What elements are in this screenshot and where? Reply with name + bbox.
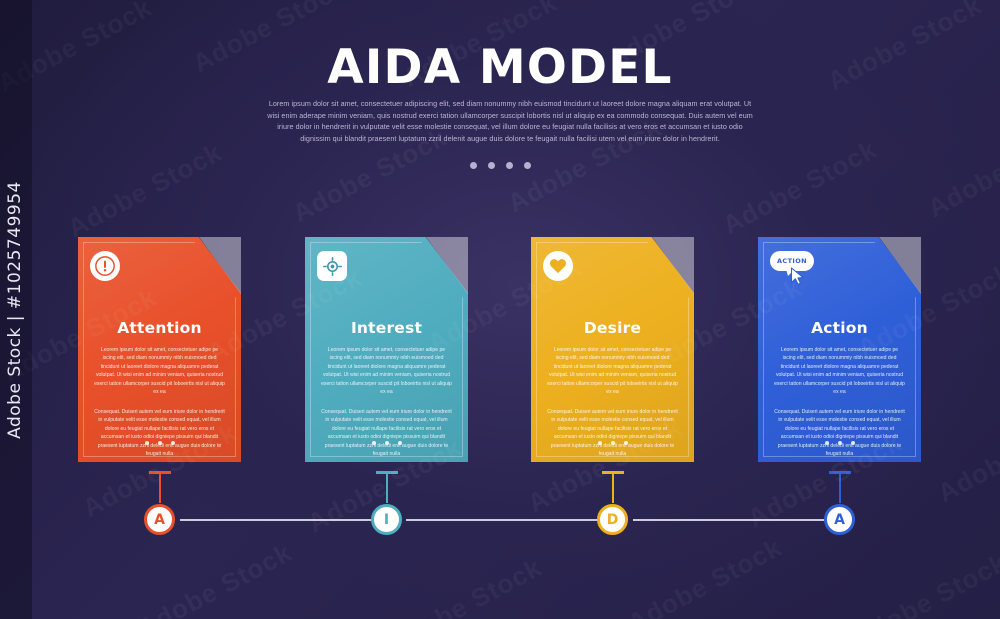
watermark-tile: Adobe Stock (718, 134, 883, 241)
card-desire[interactable]: Desire Leorem ipsum dolor sit amet, cons… (531, 237, 694, 462)
infographic-canvas: Adobe Stock Adobe Stock Adobe Stock Adob… (0, 0, 1000, 619)
timeline-stem (159, 473, 161, 503)
card-dot (611, 441, 615, 445)
cursor-click-icon: ACTION (770, 251, 820, 287)
watermark-tile: Adobe Stock (133, 537, 298, 619)
timeline-node-desire[interactable]: D (597, 504, 628, 535)
card-dot (851, 441, 855, 445)
timeline-node-letter: A (834, 512, 845, 528)
card-paragraph-2: Consequat. Duiseri autem vel eum iriure … (317, 408, 456, 459)
card-title: Action (770, 319, 909, 337)
timeline-node-letter: I (384, 512, 389, 528)
header-dot (470, 162, 477, 169)
timeline-node-action[interactable]: A (824, 504, 855, 535)
card-paragraph-1: Leorem ipsum dolor sit amet, consectetue… (770, 346, 909, 397)
card-paragraph-2: Consequat. Duiseri autem vel eum iriure … (90, 408, 229, 459)
header-dot (524, 162, 531, 169)
timeline-node-interest[interactable]: I (371, 504, 402, 535)
timeline-track-segment (406, 519, 598, 521)
card-action[interactable]: ACTION Action Leorem ipsum dolor sit ame… (758, 237, 921, 462)
page-subtitle: Lorem ipsum dolor sit amet, consectetuer… (262, 98, 758, 145)
timeline-stem (839, 473, 841, 503)
heart-icon (543, 251, 573, 281)
card-title: Attention (90, 319, 229, 337)
card-title: Interest (317, 319, 456, 337)
card-dots (758, 441, 921, 445)
card-dot (825, 441, 829, 445)
card-paragraph-2: Consequat. Duiseri autem vel eum iriure … (770, 408, 909, 459)
card-dots (305, 441, 468, 445)
watermark-tile: Adobe Stock (383, 552, 548, 619)
watermark-tile: Adobe Stock (848, 547, 1000, 619)
exclamation-icon (90, 251, 120, 281)
watermark-tile: Adobe Stock (933, 402, 1000, 509)
card-paragraph-1: Leorem ipsum dolor sit amet, consectetue… (90, 346, 229, 397)
header-dots (0, 162, 1000, 169)
card-title: Desire (543, 319, 682, 337)
watermark-tile: Adobe Stock (63, 137, 228, 244)
card-attention[interactable]: Attention Leorem ipsum dolor sit amet, c… (78, 237, 241, 462)
watermark-tile: Adobe Stock (923, 117, 1000, 224)
card-dot (158, 441, 162, 445)
cursor-arrow-icon (790, 267, 806, 286)
card-dot (145, 441, 149, 445)
card-paragraph-2: Consequat. Duiseri autem vel eum iriure … (543, 408, 682, 459)
stock-watermark-sidebar: Adobe Stock | #1025749954 (0, 0, 32, 619)
header-dot (506, 162, 513, 169)
card-dot (372, 441, 376, 445)
timeline-node-attention[interactable]: A (144, 504, 175, 535)
card-interest[interactable]: Interest Leorem ipsum dolor sit amet, co… (305, 237, 468, 462)
timeline-stem (386, 473, 388, 503)
target-icon (317, 251, 347, 281)
card-dots (531, 441, 694, 445)
card-dots (78, 441, 241, 445)
header-dot (488, 162, 495, 169)
card-dot (385, 441, 389, 445)
card-dot (171, 441, 175, 445)
stock-watermark-text: Adobe Stock | #1025749954 (5, 181, 25, 439)
card-dot (838, 441, 842, 445)
timeline-node-letter: D (607, 512, 619, 528)
timeline-stem (612, 473, 614, 503)
timeline-track-segment (180, 519, 372, 521)
card-paragraph-1: Leorem ipsum dolor sit amet, consectetue… (543, 346, 682, 397)
card-paragraph-1: Leorem ipsum dolor sit amet, consectetue… (317, 346, 456, 397)
watermark-tile: Adobe Stock (623, 532, 788, 619)
page-title: AIDA MODEL (0, 40, 1000, 95)
timeline-track-segment (633, 519, 825, 521)
card-dot (398, 441, 402, 445)
card-dot (598, 441, 602, 445)
timeline-node-letter: A (154, 512, 165, 528)
card-dot (624, 441, 628, 445)
